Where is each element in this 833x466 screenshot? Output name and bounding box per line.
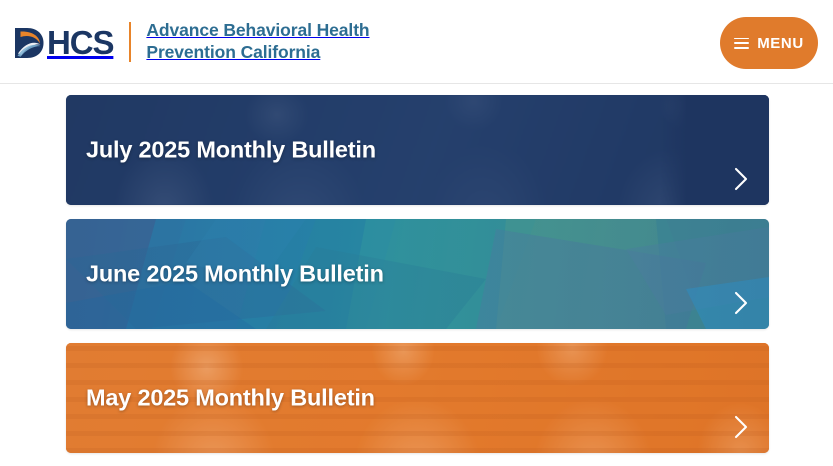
brand-tagline: Advance Behavioral Health Prevention Cal… [146, 20, 369, 63]
dhcs-logo-mark [12, 26, 46, 60]
menu-button-label: MENU [757, 35, 804, 52]
hamburger-icon [734, 38, 749, 49]
bulletin-title: May 2025 Monthly Bulletin [86, 385, 375, 412]
chevron-right-icon[interactable] [733, 290, 750, 316]
brand-divider [129, 22, 131, 62]
chevron-right-icon[interactable] [733, 414, 750, 440]
site-header: HCS Advance Behavioral Health Prevention… [0, 0, 833, 84]
bulletin-title: June 2025 Monthly Bulletin [86, 261, 384, 288]
bulletin-list: July 2025 Monthly Bulletin [0, 84, 833, 453]
dhcs-wordmark: HCS [47, 26, 113, 59]
chevron-right-icon[interactable] [733, 166, 750, 192]
bulletin-card-may[interactable]: May 2025 Monthly Bulletin [66, 343, 769, 453]
brand-logo-link[interactable]: HCS Advance Behavioral Health Prevention… [12, 0, 370, 83]
bulletin-card-july[interactable]: July 2025 Monthly Bulletin [66, 95, 769, 205]
menu-button[interactable]: MENU [720, 17, 818, 69]
bulletin-title: July 2025 Monthly Bulletin [86, 137, 376, 164]
bulletin-card-june[interactable]: June 2025 Monthly Bulletin [66, 219, 769, 329]
